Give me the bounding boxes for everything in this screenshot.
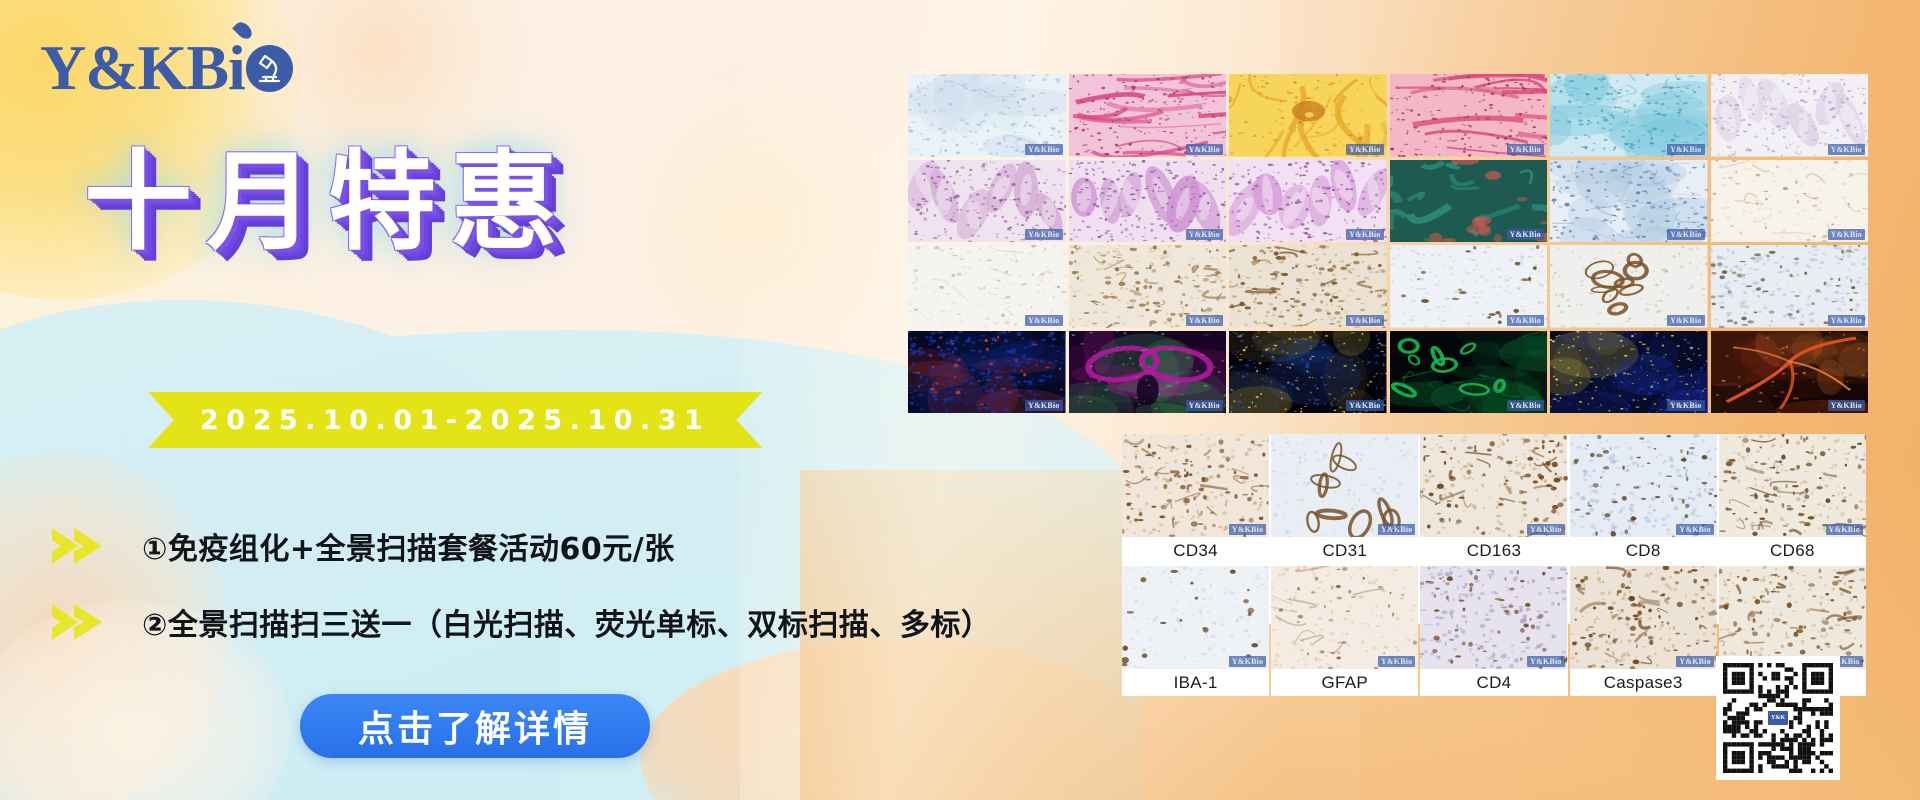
micrograph-tile: Y&KBio (1550, 160, 1708, 243)
watermark: Y&KBio (1676, 524, 1713, 535)
watermark: Y&KBio (1229, 524, 1266, 535)
micrograph-tile: Y&KBio (1550, 74, 1708, 157)
micrograph-tile: Y&KBio (1390, 245, 1548, 328)
watermark: Y&KBio (1507, 144, 1544, 155)
micrograph-tile: Y&KBio (1069, 245, 1227, 328)
micrograph-tile: Y&KBio (908, 74, 1066, 157)
micrograph-tile: Y&KBio (1229, 74, 1387, 157)
antibody-label: CD68 (1719, 537, 1866, 564)
antibody-micrograph: Y&KBio (1719, 434, 1866, 537)
watermark: Y&KBio (1346, 315, 1383, 326)
watermark: Y&KBio (1378, 656, 1415, 667)
watermark: Y&KBio (1527, 524, 1564, 535)
logo-text: Y&KBi (40, 32, 245, 103)
antibody-label: GFAP (1271, 669, 1418, 696)
watermark: Y&KBio (1229, 656, 1266, 667)
antibody-cell: Y&KBioCD31 (1271, 434, 1418, 564)
micrograph-tile: Y&KBio (1229, 331, 1387, 414)
antibody-micrograph: Y&KBio (1420, 566, 1567, 669)
micrograph-tile: Y&KBio (1069, 160, 1227, 243)
watermark: Y&KBio (1828, 144, 1865, 155)
double-chevron-right-icon (44, 523, 126, 569)
promo-banner: Y&KBi 十月特惠 2025.10.01-2025.10.31 ①免疫组化+全… (0, 0, 1920, 800)
qr-code[interactable]: Y&K (1716, 656, 1840, 780)
watermark: Y&KBio (1025, 144, 1062, 155)
watermark: Y&KBio (1025, 229, 1062, 240)
antibody-label: CD4 (1420, 669, 1567, 696)
learn-more-button[interactable]: 点击了解详情 (300, 694, 650, 758)
micrograph-tile: Y&KBio (1711, 331, 1869, 414)
watermark: Y&KBio (1676, 656, 1713, 667)
micrograph-tile: Y&KBio (1711, 245, 1869, 328)
cta-label: 点击了解详情 (358, 700, 592, 752)
logo-wordmark: Y&KBi (40, 36, 293, 100)
watermark: Y&KBio (1346, 400, 1383, 411)
watermark: Y&KBio (1507, 400, 1544, 411)
antibody-cell: Y&KBioCaspase3 (1570, 566, 1717, 696)
antibody-panel: Y&KBioCD34Y&KBioCD31Y&KBioCD163Y&KBioCD8… (1122, 434, 1866, 624)
antibody-label: IBA-1 (1122, 669, 1269, 696)
antibody-label: CD163 (1420, 537, 1567, 564)
watermark: Y&KBio (1527, 656, 1564, 667)
micrograph-tile: Y&KBio (1229, 160, 1387, 243)
double-chevron-right-icon (44, 599, 126, 645)
antibody-cell: Y&KBioCD163 (1420, 434, 1567, 564)
watermark: Y&KBio (1378, 524, 1415, 535)
watermark: Y&KBio (1346, 144, 1383, 155)
watermark: Y&KBio (1667, 229, 1704, 240)
watermark: Y&KBio (1507, 229, 1544, 240)
micrograph-tile: Y&KBio (908, 245, 1066, 328)
micrograph-tile: Y&KBio (1229, 245, 1387, 328)
offer-list: ①免疫组化+全景扫描套餐活动60元/张 ②全景扫描扫三送一（白光扫描、荧光单标、… (44, 520, 991, 672)
watermark: Y&KBio (1186, 229, 1223, 240)
antibody-micrograph: Y&KBio (1271, 434, 1418, 537)
watermark: Y&KBio (1667, 315, 1704, 326)
watermark: Y&KBio (1667, 400, 1704, 411)
antibody-micrograph: Y&KBio (1420, 434, 1567, 537)
watermark: Y&KBio (1346, 229, 1383, 240)
micrograph-tile: Y&KBio (1711, 74, 1869, 157)
watermark: Y&KBio (1828, 400, 1865, 411)
antibody-label: Caspase3 (1570, 669, 1717, 696)
antibody-micrograph: Y&KBio (1719, 566, 1866, 669)
offer-text-1: ①免疫组化+全景扫描套餐活动60元/张 (142, 524, 675, 568)
antibody-label: CD34 (1122, 537, 1269, 564)
antibody-cell: Y&KBioGFAP (1271, 566, 1418, 696)
list-item: ②全景扫描扫三送一（白光扫描、荧光单标、双标扫描、多标） (44, 596, 991, 648)
antibody-cell: Y&KBioCD68 (1719, 434, 1866, 564)
antibody-cell: Y&KBioCD4 (1420, 566, 1567, 696)
micrograph-mosaic: Y&KBioY&KBioY&KBioY&KBioY&KBioY&KBioY&KB… (908, 74, 1868, 413)
antibody-micrograph: Y&KBio (1570, 566, 1717, 669)
antibody-micrograph: Y&KBio (1122, 434, 1269, 537)
watermark: Y&KBio (1828, 315, 1865, 326)
promo-date-ribbon: 2025.10.01-2025.10.31 (148, 392, 762, 448)
antibody-micrograph: Y&KBio (1122, 566, 1269, 669)
watermark: Y&KBio (1186, 400, 1223, 411)
microscope-icon (246, 45, 293, 92)
promo-date-text: 2025.10.01-2025.10.31 (200, 405, 710, 436)
antibody-cell: Y&KBioCD8 (1570, 434, 1717, 564)
antibody-label: CD8 (1570, 537, 1717, 564)
list-item: ①免疫组化+全景扫描套餐活动60元/张 (44, 520, 991, 572)
page-title: 十月特惠 (84, 148, 572, 256)
antibody-micrograph: Y&KBio (1271, 566, 1418, 669)
watermark: Y&KBio (1828, 229, 1865, 240)
micrograph-tile: Y&KBio (1390, 160, 1548, 243)
antibody-label: CD31 (1271, 537, 1418, 564)
antibody-cell: Y&KBioCD34 (1122, 434, 1269, 564)
micrograph-tile: Y&KBio (1069, 331, 1227, 414)
micrograph-tile: Y&KBio (1390, 331, 1548, 414)
qr-center-logo: Y&K (1767, 710, 1789, 726)
micrograph-tile: Y&KBio (1711, 160, 1869, 243)
micrograph-tile: Y&KBio (1069, 74, 1227, 157)
offer-text-2: ②全景扫描扫三送一（白光扫描、荧光单标、双标扫描、多标） (142, 600, 991, 644)
micrograph-tile: Y&KBio (908, 331, 1066, 414)
micrograph-tile: Y&KBio (1390, 74, 1548, 157)
watermark: Y&KBio (1507, 315, 1544, 326)
antibody-micrograph: Y&KBio (1570, 434, 1717, 537)
micrograph-tile: Y&KBio (908, 160, 1066, 243)
watermark: Y&KBio (1186, 144, 1223, 155)
watermark: Y&KBio (1826, 524, 1863, 535)
micrograph-tile: Y&KBio (1550, 331, 1708, 414)
watermark: Y&KBio (1186, 315, 1223, 326)
watermark: Y&KBio (1667, 144, 1704, 155)
micrograph-tile: Y&KBio (1550, 245, 1708, 328)
antibody-cell: Y&KBioIBA-1 (1122, 566, 1269, 696)
watermark: Y&KBio (1025, 400, 1062, 411)
company-logo[interactable]: Y&KBi (40, 36, 293, 100)
watermark: Y&KBio (1025, 315, 1062, 326)
